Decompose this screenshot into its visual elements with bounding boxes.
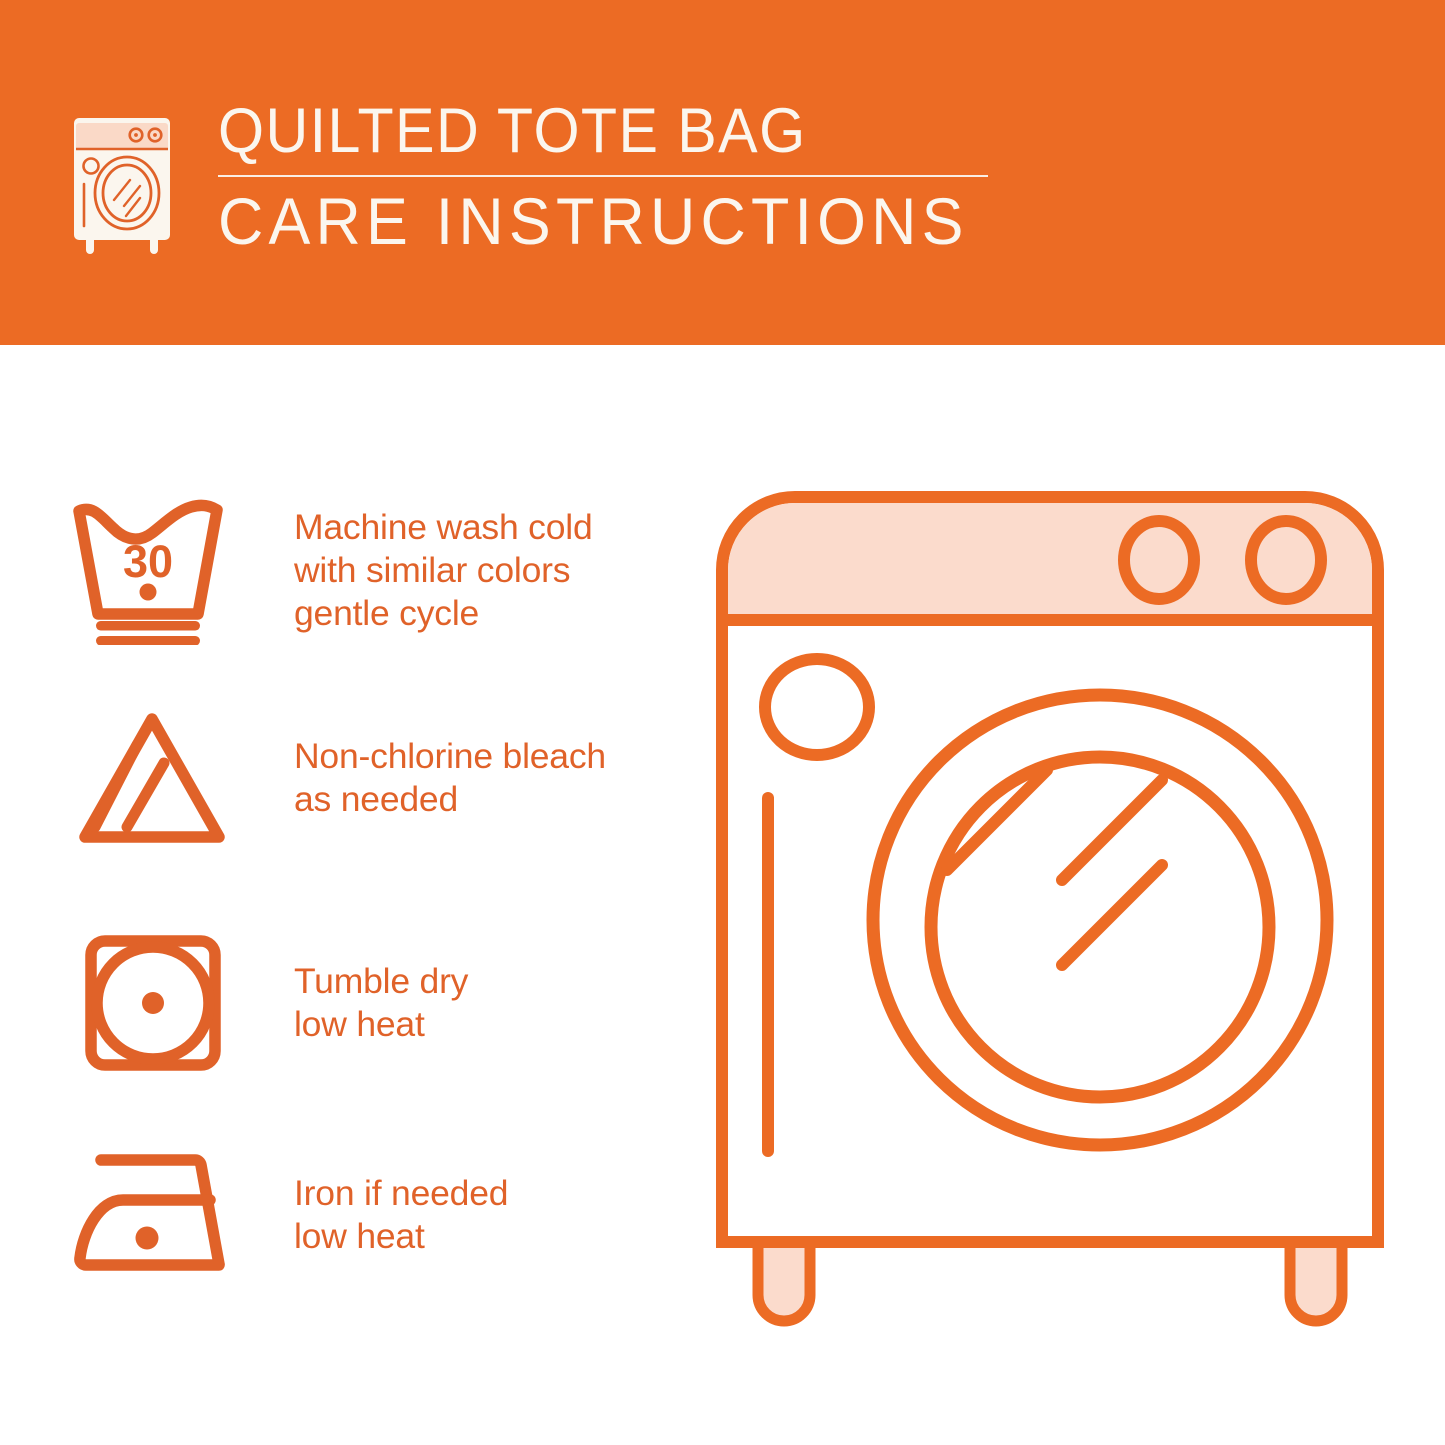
care-row-machine-wash: 30 Machine wash cold with similar colors… (62, 485, 682, 655)
care-row-iron: Iron if needed low heat (62, 1140, 682, 1290)
care-line: as needed (294, 778, 606, 821)
care-row-tumble-dry: Tumble dry low heat (62, 925, 682, 1080)
care-line: Machine wash cold (294, 506, 593, 549)
care-line: low heat (294, 1003, 468, 1046)
non-chlorine-bleach-triangle-icon (62, 703, 242, 853)
body-area: 30 Machine wash cold with similar colors… (0, 345, 1445, 1445)
header-content: QUILTED TOTE BAG CARE INSTRUCTIONS (68, 98, 1068, 268)
care-text-bleach: Non-chlorine bleach as needed (294, 735, 606, 821)
care-text-iron: Iron if needed low heat (294, 1172, 508, 1258)
care-line: gentle cycle (294, 592, 593, 635)
svg-text:30: 30 (123, 536, 173, 587)
washing-machine-illustration (700, 475, 1400, 1395)
wash-tub-30-gentle-icon: 30 (62, 495, 242, 645)
care-line: Tumble dry (294, 960, 468, 1003)
page-title: QUILTED TOTE BAG (218, 98, 1017, 164)
tumble-dry-low-icon (62, 928, 242, 1078)
header-band: QUILTED TOTE BAG CARE INSTRUCTIONS (0, 0, 1445, 345)
care-text-machine-wash: Machine wash cold with similar colors ge… (294, 506, 593, 635)
care-text-tumble-dry: Tumble dry low heat (294, 960, 468, 1046)
care-line: low heat (294, 1215, 508, 1258)
washing-machine-icon (68, 104, 176, 256)
care-line: Iron if needed (294, 1172, 508, 1215)
page-subtitle: CARE INSTRUCTIONS (218, 186, 1026, 256)
care-line: Non-chlorine bleach (294, 735, 606, 778)
care-line: with similar colors (294, 549, 593, 592)
iron-low-heat-icon (62, 1140, 242, 1290)
header-title-group: QUILTED TOTE BAG CARE INSTRUCTIONS (218, 98, 1068, 256)
care-row-bleach: Non-chlorine bleach as needed (62, 693, 682, 863)
title-divider (218, 175, 988, 177)
